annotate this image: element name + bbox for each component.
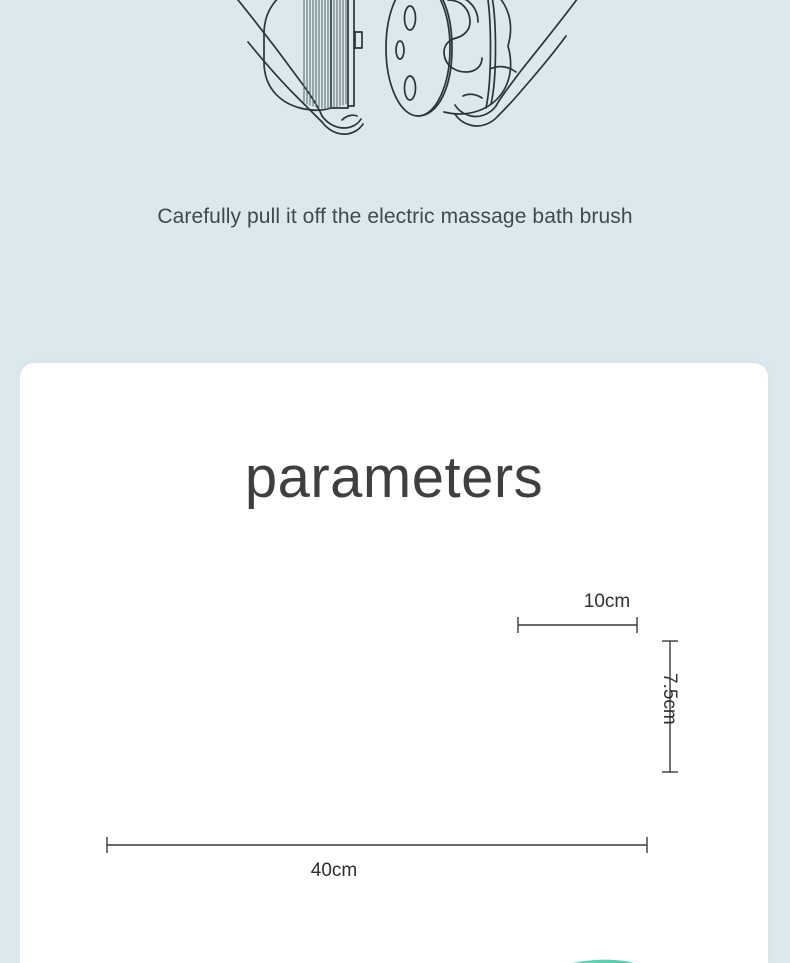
product-detail-page: Carefully pull it off the electric massa…	[0, 0, 790, 963]
dimension-label-length: 40cm	[20, 860, 648, 882]
hands-separating-brush-illustration	[186, 0, 616, 170]
parameters-card: parameters	[20, 363, 768, 963]
dimension-label-width: 10cm	[547, 591, 667, 613]
instruction-caption: Carefully pull it off the electric massa…	[0, 205, 790, 229]
product-diagram: 10cm 7.5cm 40cm	[20, 363, 768, 963]
instruction-section: Carefully pull it off the electric massa…	[0, 0, 790, 363]
dimension-label-height: 7.5cm	[658, 673, 680, 725]
